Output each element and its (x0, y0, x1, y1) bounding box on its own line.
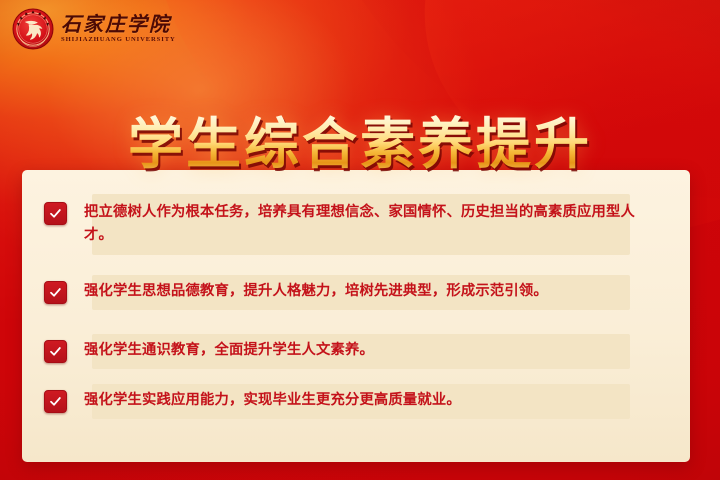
checkmark-icon (44, 390, 67, 413)
page-title-container: 学生综合素养提升 (0, 77, 720, 212)
university-seal-icon (12, 8, 54, 50)
page-title: 学生综合素养提升 (128, 114, 592, 176)
brand-name-cn: 石家庄学院 (61, 14, 176, 34)
list-item: 强化学生实践应用能力，实现毕业生更充分更高质量就业。 (22, 389, 690, 413)
checkmark-icon (44, 281, 67, 304)
list-item-text: 强化学生思想品德教育，提升人格魅力，培树先进典型，形成示范引领。 (84, 280, 603, 303)
brand-lockup: 石家庄学院 SHIJIAZHUANG UNIVERSITY (12, 8, 176, 50)
content-panel: 把立德树人作为根本任务，培养具有理想信念、家国情怀、历史担当的高素质应用型人才。… (22, 170, 690, 462)
brand-name-en: SHIJIAZHUANG UNIVERSITY (61, 37, 176, 44)
brand-wordmark: 石家庄学院 SHIJIAZHUANG UNIVERSITY (61, 14, 176, 44)
poster-canvas: 石家庄学院 SHIJIAZHUANG UNIVERSITY 学生综合素养提升 把… (0, 0, 720, 480)
list-item: 强化学生思想品德教育，提升人格魅力，培树先进典型，形成示范引领。 (22, 280, 690, 304)
list-item-text: 强化学生实践应用能力，实现毕业生更充分更高质量就业。 (84, 389, 516, 412)
bullet-list: 把立德树人作为根本任务，培养具有理想信念、家国情怀、历史担当的高素质应用型人才。… (22, 170, 690, 462)
checkmark-icon (44, 340, 67, 363)
list-item-text: 强化学生通识教育，全面提升学生人文素养。 (84, 339, 429, 362)
list-item: 强化学生通识教育，全面提升学生人文素养。 (22, 339, 690, 363)
